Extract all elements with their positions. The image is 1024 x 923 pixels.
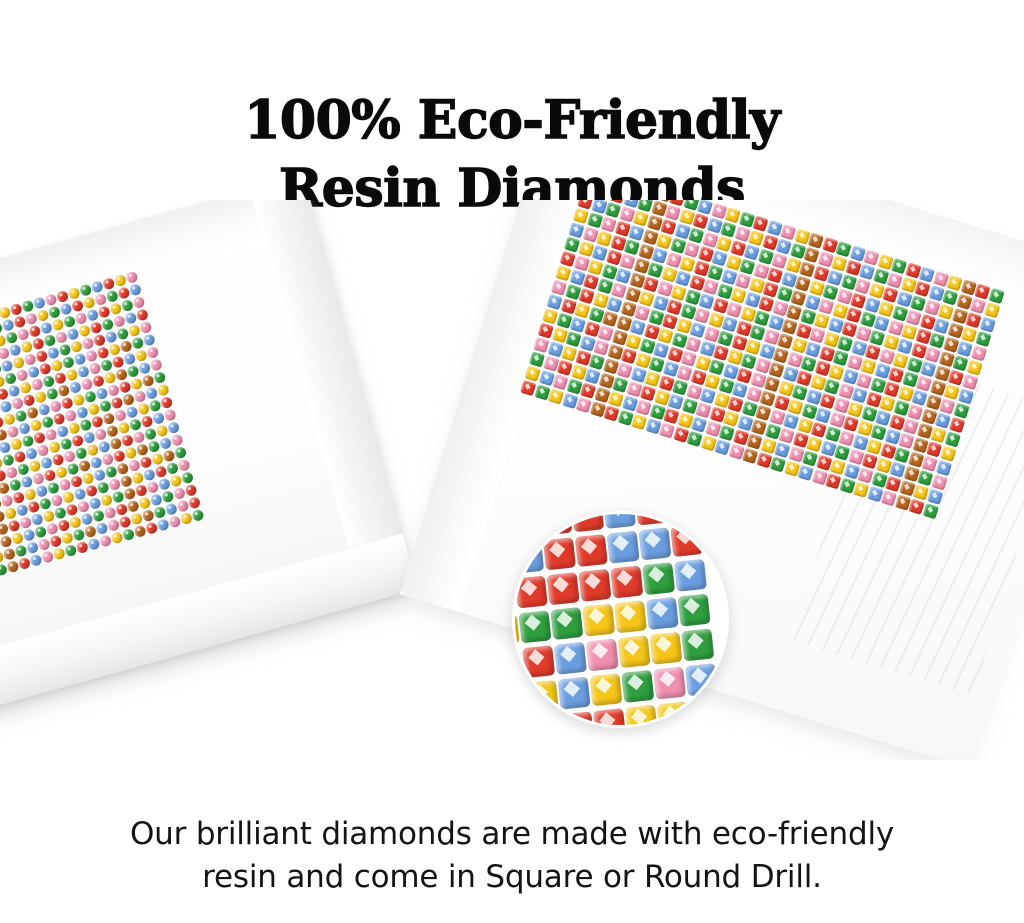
drill-bead (711, 250, 727, 266)
drill-bead (929, 332, 945, 348)
drill-bead (132, 431, 146, 445)
drill-bead (898, 433, 914, 449)
drill-bead (119, 475, 133, 489)
drill-bead (55, 465, 69, 479)
drill-bead (856, 373, 872, 389)
drill-bead (60, 531, 74, 545)
drill-bead (811, 422, 827, 438)
drill-bead (593, 339, 609, 355)
drill-bead (63, 315, 77, 329)
drill-bead (713, 345, 729, 361)
drill-bead (184, 484, 198, 498)
drill-bead (81, 472, 95, 486)
drill-bead (943, 384, 959, 400)
drill-bead (911, 390, 927, 406)
drill-bead (878, 301, 894, 317)
drill-bead (742, 448, 758, 464)
round-drill-tray (0, 200, 418, 728)
drill-bead (79, 418, 93, 432)
drill-bead (910, 295, 926, 311)
drill-bead (84, 525, 98, 539)
magnified-drill-bead (512, 718, 531, 728)
drill-bead (125, 405, 139, 419)
drill-bead (33, 431, 47, 445)
magnified-drill-bead (642, 562, 675, 595)
drill-bead (612, 377, 628, 393)
drill-bead (40, 456, 54, 470)
drill-bead (698, 293, 714, 309)
drill-bead (797, 465, 813, 481)
drill-bead (42, 375, 56, 389)
drill-bead (36, 444, 50, 458)
drill-bead (4, 372, 18, 386)
magnified-drill-bead (674, 559, 707, 592)
drill-bead (670, 285, 686, 301)
drill-bead (44, 428, 58, 442)
drill-bead (30, 378, 44, 392)
drill-bead (548, 388, 564, 404)
drill-bead (38, 497, 52, 511)
drill-bead (123, 487, 137, 501)
drill-bead (92, 509, 106, 523)
drill-bead (155, 424, 169, 438)
drill-bead (103, 506, 117, 520)
drill-bead (26, 541, 40, 555)
drill-bead (16, 328, 30, 342)
magnified-drill-bead (646, 597, 679, 630)
drill-bead (691, 416, 707, 432)
drill-bead (723, 411, 739, 427)
drill-bead (611, 282, 627, 298)
drill-bead (169, 474, 183, 488)
drill-bead (767, 267, 783, 283)
drill-bead (716, 236, 732, 252)
drill-bead (538, 323, 554, 339)
drill-bead (90, 280, 104, 294)
drill-bead (66, 327, 80, 341)
drill-bead (841, 321, 857, 337)
magnified-drill-bead (526, 680, 559, 713)
drill-bead (16, 463, 30, 477)
drill-bead (827, 270, 843, 286)
drill-bead (153, 371, 167, 385)
drill-bead (147, 440, 161, 454)
drill-bead (589, 354, 605, 370)
drill-bead (56, 290, 70, 304)
drill-bead (565, 331, 581, 347)
drill-bead (140, 415, 154, 429)
drill-bead (126, 500, 140, 514)
drill-bead (81, 337, 95, 351)
drill-bead (533, 337, 549, 353)
magnified-drill-bead (638, 527, 671, 560)
drill-bead (78, 324, 92, 338)
drill-bead (1, 318, 15, 332)
drill-bead (77, 365, 91, 379)
drill-bead (771, 253, 787, 269)
drill-bead (154, 465, 168, 479)
drill-bead (18, 422, 32, 436)
magnified-drill-bead (685, 663, 718, 696)
drill-bead (803, 247, 819, 263)
drill-bead (62, 491, 76, 505)
drill-bead (846, 307, 862, 323)
magnified-drill-bead (603, 511, 636, 529)
drill-bead (65, 503, 79, 517)
caption-text: Our brilliant diamonds are made with eco… (0, 813, 1024, 899)
drill-bead (41, 415, 55, 429)
drill-bead (25, 447, 39, 461)
drill-bead (124, 311, 138, 325)
magnified-drill-bead (561, 711, 594, 728)
drill-bead (67, 421, 81, 435)
magnified-drill-bead (547, 572, 580, 605)
drill-bead (786, 304, 802, 320)
drill-bead (30, 513, 44, 527)
drill-bead (686, 431, 702, 447)
drill-bead (857, 467, 873, 483)
drill-bead (850, 293, 866, 309)
drill-bead (181, 471, 195, 485)
drill-bead (4, 507, 18, 521)
magnified-drill-bead (519, 610, 552, 643)
drill-bead (869, 330, 885, 346)
drill-bead (117, 421, 131, 435)
drill-bead (520, 380, 536, 396)
drill-bead (529, 351, 545, 367)
drill-bead (795, 276, 811, 292)
drill-bead (65, 368, 79, 382)
magnified-drill-bead (554, 642, 587, 675)
drill-bead (957, 341, 973, 357)
drill-bead (805, 341, 821, 357)
drill-bead (34, 525, 48, 539)
drill-bead (50, 359, 64, 373)
drill-bead (6, 560, 20, 574)
drill-bead (685, 336, 701, 352)
drill-bead (621, 348, 637, 364)
drill-bead (672, 379, 688, 395)
drill-bead (730, 287, 746, 303)
magnified-drill-bead (621, 670, 654, 703)
drill-bead (130, 377, 144, 391)
drill-bead (35, 350, 49, 364)
drill-bead (679, 256, 695, 272)
drill-bead (71, 299, 85, 313)
drill-bead (23, 353, 37, 367)
magnified-drill-bead (579, 569, 612, 602)
drill-bead (799, 261, 815, 277)
drill-bead (106, 424, 120, 438)
drill-bead (755, 405, 771, 421)
drill-bead (773, 347, 789, 363)
drill-bead (19, 381, 33, 395)
drill-bead (933, 318, 949, 334)
drill-bead (86, 443, 100, 457)
drill-bead (74, 447, 88, 461)
drill-bead (12, 356, 26, 370)
drill-bead (649, 356, 665, 372)
drill-bead (26, 406, 40, 420)
drill-bead (87, 403, 101, 417)
drill-bead (71, 434, 85, 448)
magnified-drill-bead (558, 677, 591, 710)
drill-bead (52, 412, 66, 426)
drill-bead (121, 299, 135, 313)
drill-bead (847, 401, 863, 417)
drill-bead (1, 453, 15, 467)
caption-line-2: resin and come in Square or Round Drill. (0, 856, 1024, 899)
drill-bead (597, 325, 613, 341)
drill-bead (578, 288, 594, 304)
drill-bead (777, 333, 793, 349)
drill-bead (659, 422, 675, 438)
drill-bead (45, 387, 59, 401)
drill-bead (89, 456, 103, 470)
magnified-drill-grid (512, 511, 729, 728)
drill-bead (31, 337, 45, 351)
drill-bead (13, 315, 27, 329)
drill-bead (787, 399, 803, 415)
drill-bead (754, 310, 770, 326)
drill-bead (695, 402, 711, 418)
drill-bead (141, 509, 155, 523)
drill-bead (834, 444, 850, 460)
drill-bead (146, 346, 160, 360)
drill-bead (783, 413, 799, 429)
drill-bead (806, 436, 822, 452)
drill-bead (158, 477, 172, 491)
drill-bead (717, 330, 733, 346)
drill-bead (802, 450, 818, 466)
magnified-drill-bead (550, 607, 583, 640)
drill-bead (600, 216, 616, 232)
drill-bead (879, 396, 895, 412)
magnified-drill-bead (689, 698, 722, 728)
drill-bead (592, 245, 608, 261)
drill-bead (920, 361, 936, 377)
drill-bead (946, 275, 962, 291)
magnified-drill-bead (681, 628, 714, 661)
drill-bead (814, 313, 830, 329)
drill-bead (176, 499, 190, 513)
drill-bead (23, 488, 37, 502)
magnified-drill-bead (515, 576, 548, 609)
drill-bead (7, 519, 21, 533)
drill-bead (887, 272, 903, 288)
drill-bead (921, 456, 937, 472)
drill-bead (49, 535, 63, 549)
drill-bead (832, 350, 848, 366)
drill-bead (133, 390, 147, 404)
drill-bead (764, 376, 780, 392)
drill-bead (156, 383, 170, 397)
drill-bead (656, 233, 672, 249)
drill-bead (914, 281, 930, 297)
drill-bead (174, 446, 188, 460)
drill-bead (5, 466, 19, 480)
drill-bead (11, 397, 25, 411)
drill-bead (905, 310, 921, 326)
drill-bead (131, 471, 145, 485)
drill-bead (853, 482, 869, 498)
drill-bead (80, 512, 94, 526)
drill-bead (552, 374, 568, 390)
drill-bead (75, 406, 89, 420)
drill-bead (32, 472, 46, 486)
drill-bead (6, 425, 20, 439)
drill-bead (59, 302, 73, 316)
drill-bead (72, 393, 86, 407)
drill-bead (63, 450, 77, 464)
drill-bead (888, 367, 904, 383)
drill-bead (145, 387, 159, 401)
magnified-drill-bead (543, 537, 576, 570)
drill-bead (647, 262, 663, 278)
drill-bead (546, 294, 562, 310)
drill-bead (38, 362, 52, 376)
drill-bead (111, 355, 125, 369)
drill-bead (640, 385, 656, 401)
drill-bead (110, 396, 124, 410)
drill-bead (884, 381, 900, 397)
drill-bead (93, 334, 107, 348)
drill-bead (99, 534, 113, 548)
drill-bead (139, 321, 153, 335)
drill-bead (862, 453, 878, 469)
drill-bead (851, 387, 867, 403)
drill-bead (700, 388, 716, 404)
drill-bead (161, 490, 175, 504)
drill-bead (148, 399, 162, 413)
drill-bead (49, 400, 63, 414)
drill-bead (624, 239, 640, 255)
drill-bead (688, 227, 704, 243)
drill-bead (748, 230, 764, 246)
drill-bead (838, 430, 854, 446)
drill-bead (574, 302, 590, 318)
drill-bead (751, 419, 767, 435)
drill-bead (72, 528, 86, 542)
drill-bead (749, 325, 765, 341)
drill-bead (825, 473, 841, 489)
drill-bead (43, 469, 57, 483)
drill-bead (82, 431, 96, 445)
drill-bead (859, 264, 875, 280)
drill-bead (35, 484, 49, 498)
drill-bead (770, 456, 786, 472)
drill-bead (608, 391, 624, 407)
drill-bead (875, 410, 891, 426)
drill-bead (20, 475, 34, 489)
drill-bead (152, 412, 166, 426)
drill-bead (573, 208, 589, 224)
drill-bead (908, 499, 924, 515)
drill-bead (625, 334, 641, 350)
drill-bead (73, 352, 87, 366)
drill-bead (758, 296, 774, 312)
drill-bead (619, 253, 635, 269)
drill-bead (103, 371, 117, 385)
drill-bead (557, 360, 573, 376)
drill-bead (605, 202, 621, 218)
drill-bead (115, 368, 129, 382)
drill-bead (830, 459, 846, 475)
drill-bead (97, 440, 111, 454)
drill-bead (84, 390, 98, 404)
drill-bead (19, 516, 33, 530)
drill-bead (112, 449, 126, 463)
drill-bead (117, 286, 131, 300)
drill-bead (27, 365, 41, 379)
drill-bead (137, 402, 151, 416)
drill-bead (58, 343, 72, 357)
drill-bead (116, 462, 130, 476)
drill-bead (694, 308, 710, 324)
drill-bead (894, 447, 910, 463)
drill-bead (818, 298, 834, 314)
drill-bead (3, 412, 17, 426)
drill-bead (792, 385, 808, 401)
drill-bead (635, 399, 651, 415)
drill-bead (151, 452, 165, 466)
drill-bead (18, 557, 32, 571)
magnified-drill-bead (607, 531, 640, 564)
drill-bead (50, 494, 64, 508)
drill-bead (935, 413, 951, 429)
drill-bead (77, 500, 91, 514)
drill-bead (631, 414, 647, 430)
drill-bead (22, 528, 36, 542)
drill-bead (107, 519, 121, 533)
drill-bead (870, 424, 886, 440)
drill-bead (92, 374, 106, 388)
drill-bead (59, 437, 73, 451)
drill-bead (33, 296, 47, 310)
magnified-drill-row (512, 725, 729, 728)
drill-bead (111, 490, 125, 504)
drill-bead (101, 318, 115, 332)
drill-bead (948, 370, 964, 386)
magnified-drill-bead (653, 667, 686, 700)
drill-bead (897, 338, 913, 354)
drill-bead (854, 278, 870, 294)
drill-bead (741, 353, 757, 369)
drill-bead (82, 296, 96, 310)
drill-bead (638, 291, 654, 307)
drill-bead (37, 403, 51, 417)
drill-bead (100, 359, 114, 373)
drill-bead (74, 312, 88, 326)
drill-bead (43, 334, 57, 348)
drill-bead (37, 538, 51, 552)
drill-bead (930, 427, 946, 443)
drill-bead (163, 408, 177, 422)
drill-bead (87, 537, 101, 551)
drill-bead (961, 326, 977, 342)
drill-bead (965, 312, 981, 328)
drill-bead (768, 362, 784, 378)
drill-bead (630, 319, 646, 335)
drill-bead (735, 273, 751, 289)
drill-bead (119, 340, 133, 354)
drill-bead (25, 312, 39, 326)
drill-bead (110, 531, 124, 545)
drill-bead (165, 502, 179, 516)
drill-bead (85, 349, 99, 363)
drill-bead (824, 379, 840, 395)
drill-bead (722, 316, 738, 332)
